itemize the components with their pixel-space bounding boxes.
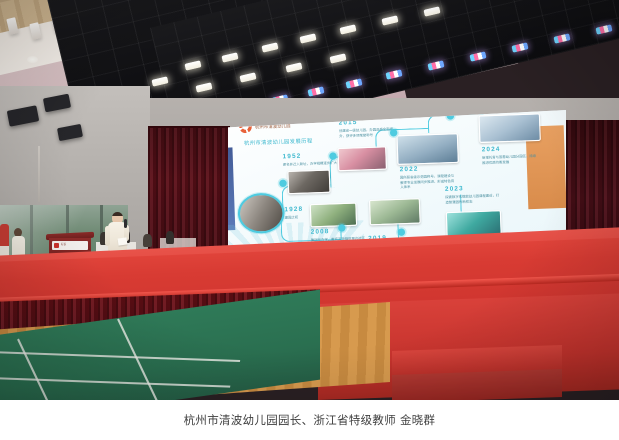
timeline-year: 1952 <box>283 153 302 160</box>
speaker-script-paper <box>118 237 128 245</box>
timeline-photo <box>396 133 458 165</box>
photo-caption: 杭州市清波幼儿园园长、浙江省特级教师 金晓群 <box>184 412 436 428</box>
timeline-year: 2023 <box>445 186 464 193</box>
timeline-year: 2022 <box>400 166 419 173</box>
timeline-photo <box>310 202 357 227</box>
timeline-description: 探索数字化赋能幼儿园课程建设，打造智慧园所新样态 <box>445 193 503 205</box>
timeline-photo <box>287 169 330 194</box>
downlight-glow <box>27 56 38 63</box>
podium-plaque-text: 标识 <box>61 244 66 247</box>
podium-plaque: 标识 <box>52 241 88 250</box>
podium-logo-icon <box>54 243 59 248</box>
court-line <box>117 318 168 400</box>
timeline-year: 2008 <box>311 229 330 236</box>
court-line <box>17 339 68 400</box>
caption-area: 杭州市清波幼儿园园长、浙江省特级教师 金晓群 <box>0 400 619 440</box>
timeline-photo <box>369 198 421 225</box>
timeline-description: 创建省一级幼儿园，办园品质全面提升，获评多项荣誉称号 <box>339 127 397 139</box>
timeline-year: 1928 <box>284 206 303 213</box>
timeline-year: 2024 <box>482 147 501 154</box>
timeline-photo <box>337 146 387 171</box>
microphone-icon <box>124 219 127 228</box>
speaker-hanging-rod <box>38 146 40 202</box>
timeline-photo <box>478 113 540 143</box>
screenshot-page: 杭州市清波幼儿园 杭州市清波幼儿园发展历程 1928 建园之初 <box>0 0 619 440</box>
stage-step <box>392 369 562 400</box>
timeline-description: 新增托育与普惠幼儿园分园区，持续推进优质均衡发展 <box>482 154 540 166</box>
audience-member <box>143 234 152 247</box>
court-line <box>0 351 240 362</box>
speaker-arm-right <box>105 226 110 246</box>
event-photograph: 杭州市清波幼儿园 杭州市清波幼儿园发展历程 1928 建园之初 <box>0 0 619 400</box>
audience-member <box>166 231 174 244</box>
